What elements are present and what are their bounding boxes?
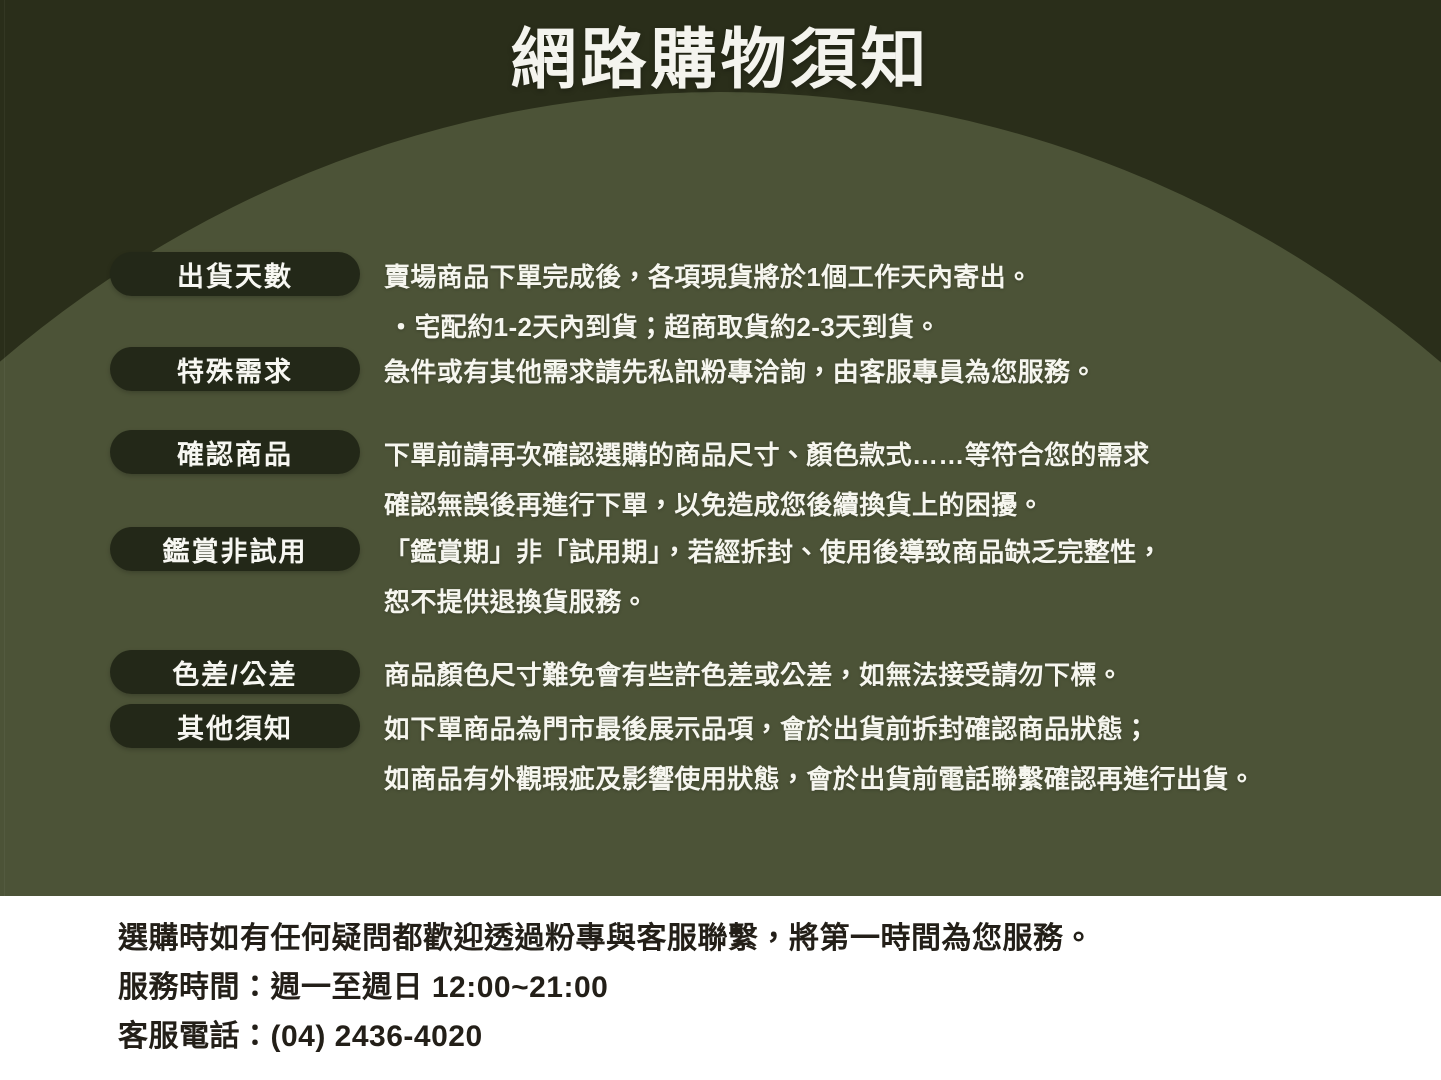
notice-row: 特殊需求 急件或有其他需求請先私訊粉專洽詢，由客服專員為您服務。 <box>110 347 1430 397</box>
shopping-notice-page: 網路購物須知 出貨天數 賣場商品下單完成後，各項現貨將於1個工作天內寄出。 ・宅… <box>0 0 1441 1080</box>
badge-inspection-not-trial: 鑑賞非試用 <box>110 527 360 571</box>
footer-text-block: 選購時如有任何疑問都歡迎透過粉專與客服聯繫，將第一時間為您服務。 服務時間：週一… <box>118 914 1094 1061</box>
notice-rows: 出貨天數 賣場商品下單完成後，各項現貨將於1個工作天內寄出。 ・宅配約1-2天內… <box>0 0 1441 896</box>
footer-line-service-hours: 服務時間：週一至週日 12:00~21:00 <box>118 963 1094 1012</box>
notice-row: 鑑賞非試用 「鑑賞期」非「試用期」，若經拆封、使用後導致商品缺乏完整性， 恕不提… <box>110 527 1430 627</box>
badge-other-notes: 其他須知 <box>110 704 360 748</box>
notice-row: 出貨天數 賣場商品下單完成後，各項現貨將於1個工作天內寄出。 ・宅配約1-2天內… <box>110 252 1430 352</box>
notice-line: 「鑑賞期」非「試用期」，若經拆封、使用後導致商品缺乏完整性， <box>384 527 1430 577</box>
notice-body-shipping-days: 賣場商品下單完成後，各項現貨將於1個工作天內寄出。 ・宅配約1-2天內到貨；超商… <box>384 252 1430 352</box>
notice-line: 急件或有其他需求請先私訊粉專洽詢，由客服專員為您服務。 <box>384 347 1430 397</box>
notice-line: 下單前請再次確認選購的商品尺寸、顏色款式……等符合您的需求 <box>384 430 1430 480</box>
notice-body-color-size-tolerance: 商品顏色尺寸難免會有些許色差或公差，如無法接受請勿下標。 <box>384 650 1430 700</box>
badge-special-request: 特殊需求 <box>110 347 360 391</box>
green-panel: 網路購物須知 出貨天數 賣場商品下單完成後，各項現貨將於1個工作天內寄出。 ・宅… <box>0 0 1441 896</box>
badge-color-size-tolerance: 色差/公差 <box>110 650 360 694</box>
footer-contact-panel: 選購時如有任何疑問都歡迎透過粉專與客服聯繫，將第一時間為您服務。 服務時間：週一… <box>0 896 1441 1080</box>
notice-line: 如下單商品為門市最後展示品項，會於出貨前拆封確認商品狀態； <box>384 704 1430 754</box>
notice-line: 確認無誤後再進行下單，以免造成您後續換貨上的困擾。 <box>384 480 1430 530</box>
notice-body-confirm-product: 下單前請再次確認選購的商品尺寸、顏色款式……等符合您的需求 確認無誤後再進行下單… <box>384 430 1430 530</box>
notice-row: 其他須知 如下單商品為門市最後展示品項，會於出貨前拆封確認商品狀態； 如商品有外… <box>110 704 1430 804</box>
footer-line-contact-invite: 選購時如有任何疑問都歡迎透過粉專與客服聯繫，將第一時間為您服務。 <box>118 914 1094 963</box>
notice-body-other-notes: 如下單商品為門市最後展示品項，會於出貨前拆封確認商品狀態； 如商品有外觀瑕疵及影… <box>384 704 1430 804</box>
notice-row: 確認商品 下單前請再次確認選購的商品尺寸、顏色款式……等符合您的需求 確認無誤後… <box>110 430 1430 530</box>
notice-body-special-request: 急件或有其他需求請先私訊粉專洽詢，由客服專員為您服務。 <box>384 347 1430 397</box>
badge-confirm-product: 確認商品 <box>110 430 360 474</box>
notice-row: 色差/公差 商品顏色尺寸難免會有些許色差或公差，如無法接受請勿下標。 <box>110 650 1430 700</box>
notice-line: ・宅配約1-2天內到貨；超商取貨約2-3天到貨。 <box>384 302 1430 352</box>
footer-line-service-phone: 客服電話：(04) 2436-4020 <box>118 1012 1094 1061</box>
notice-line: 賣場商品下單完成後，各項現貨將於1個工作天內寄出。 <box>384 252 1430 302</box>
notice-line: 商品顏色尺寸難免會有些許色差或公差，如無法接受請勿下標。 <box>384 650 1430 700</box>
notice-line: 如商品有外觀瑕疵及影響使用狀態，會於出貨前電話聯繫確認再進行出貨。 <box>384 754 1430 804</box>
notice-line: 恕不提供退換貨服務。 <box>384 577 1430 627</box>
notice-body-inspection-not-trial: 「鑑賞期」非「試用期」，若經拆封、使用後導致商品缺乏完整性， 恕不提供退換貨服務… <box>384 527 1430 627</box>
badge-shipping-days: 出貨天數 <box>110 252 360 296</box>
